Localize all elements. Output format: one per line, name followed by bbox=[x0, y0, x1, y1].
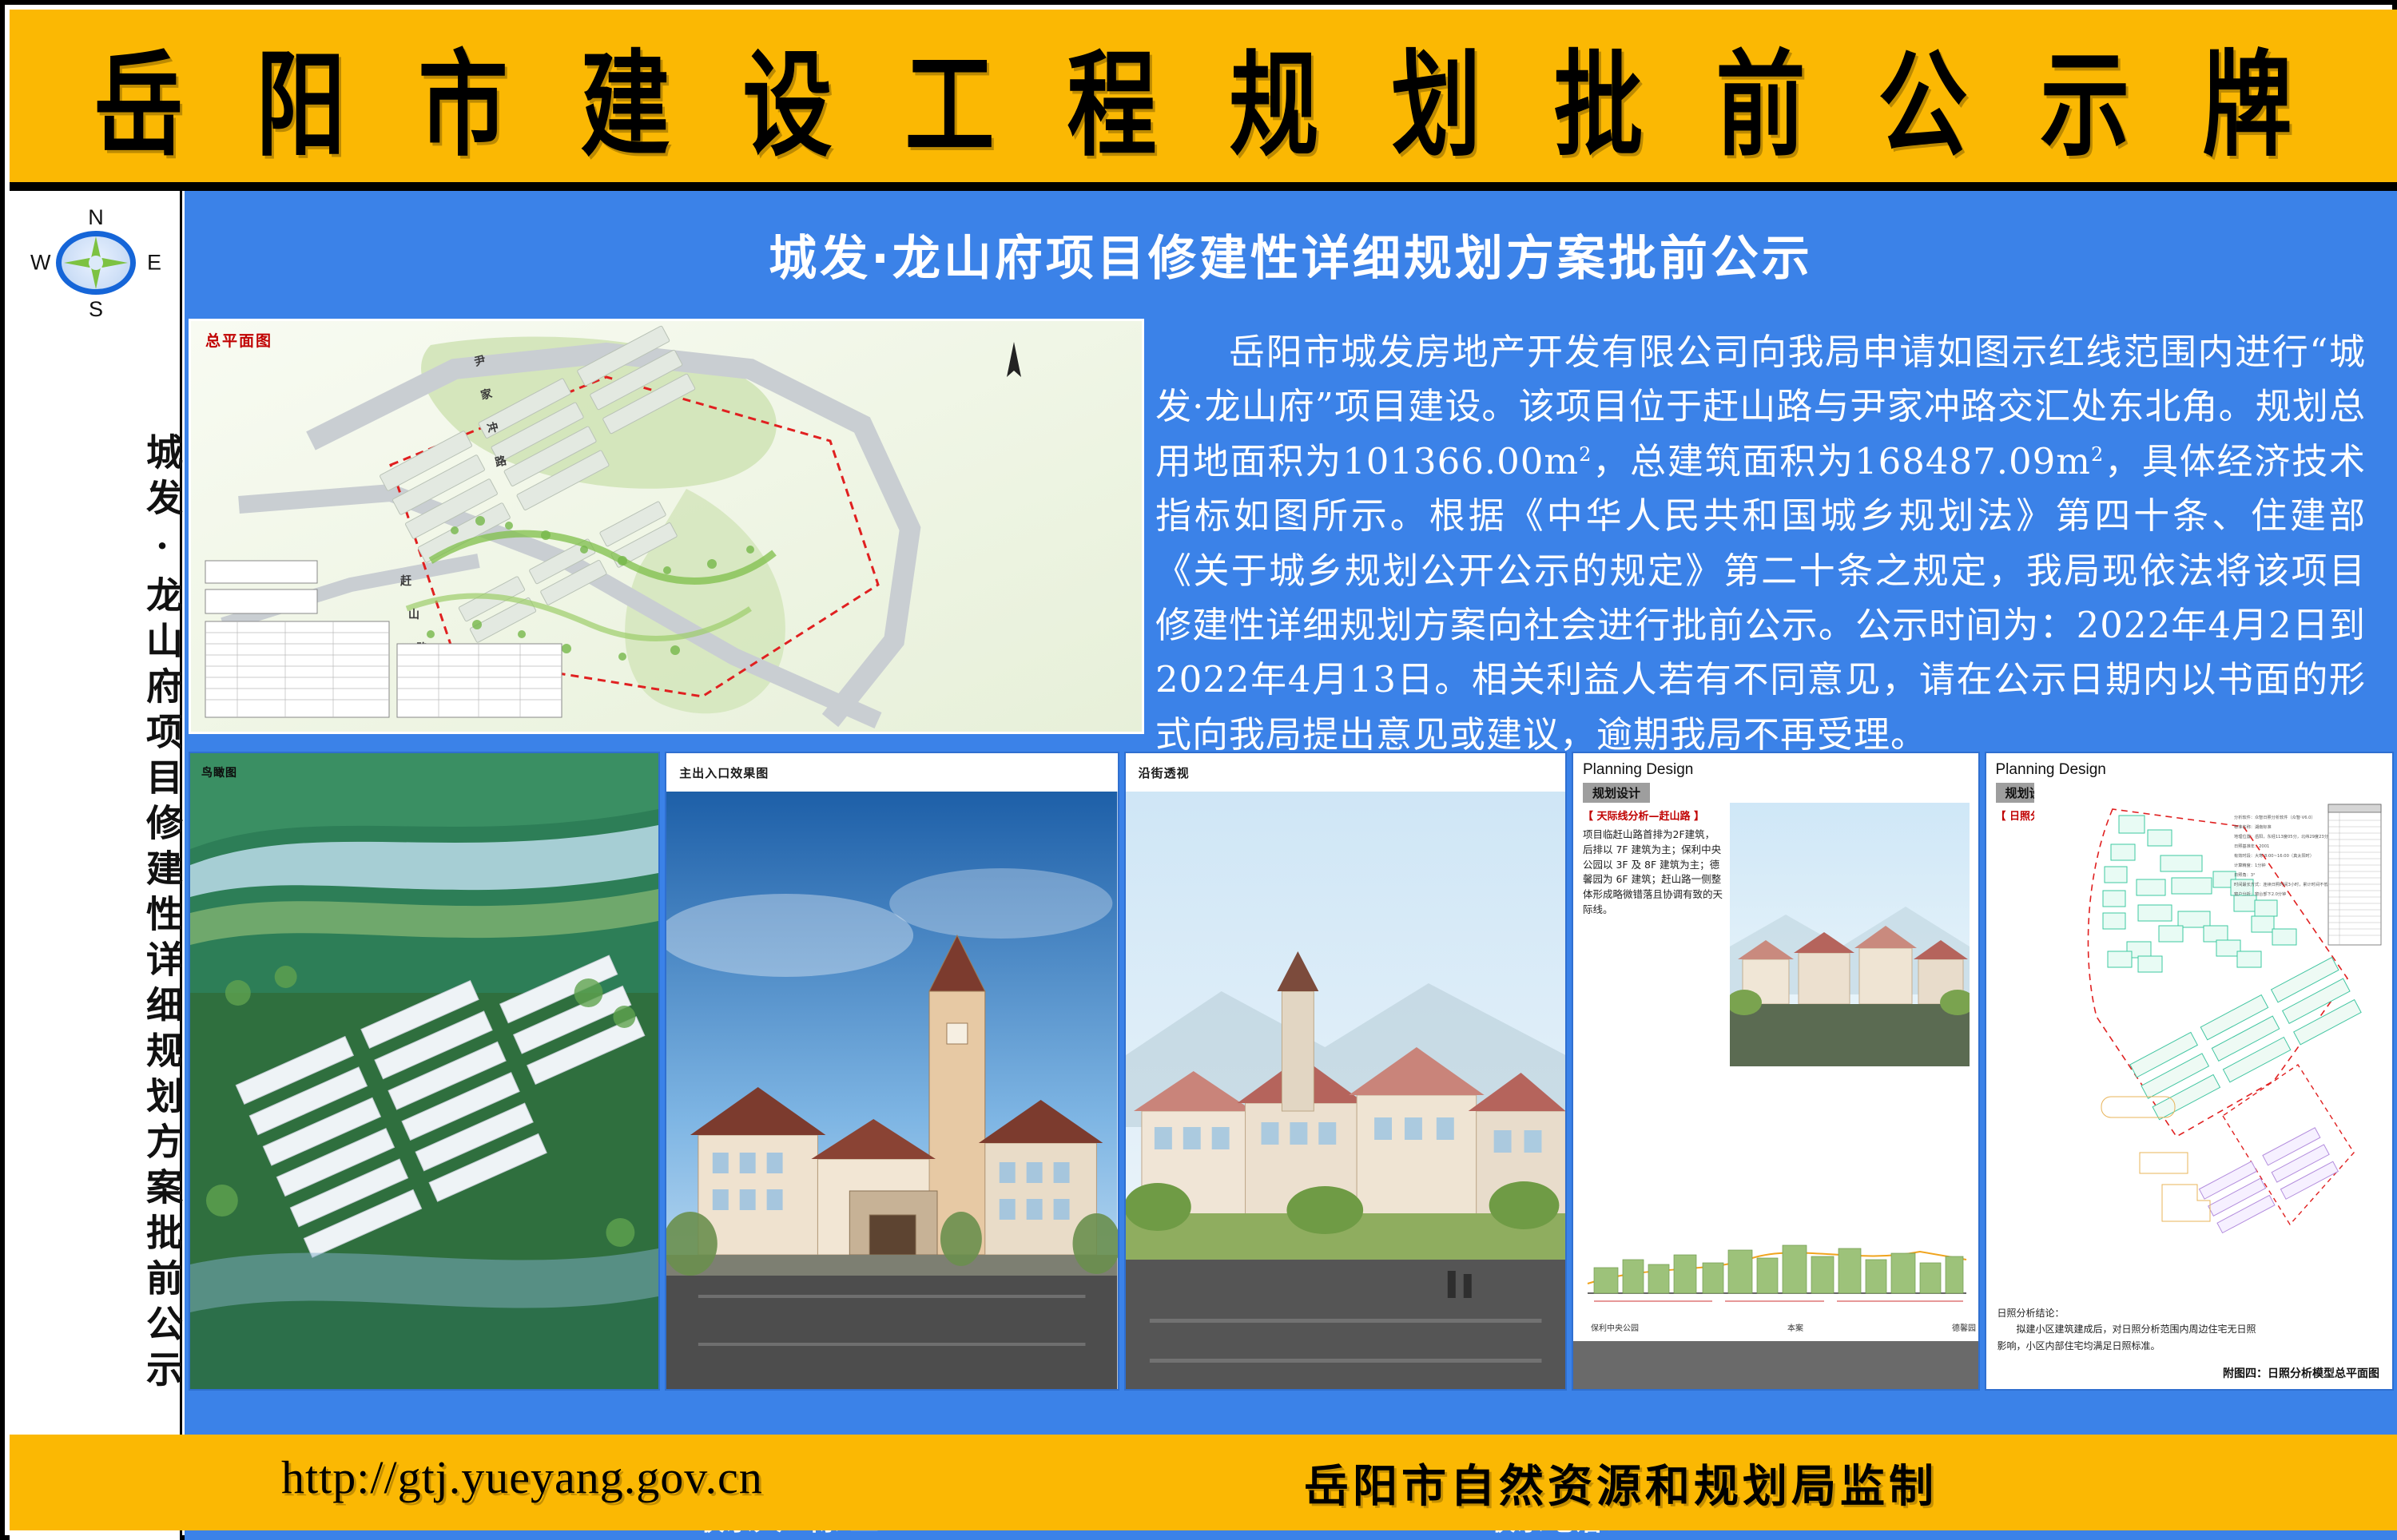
site-plan-drawing: 尹 家 冲 路 赶山路 bbox=[191, 321, 1142, 732]
left-spine: N S W E 城发·龙山府项目修建性详细规划方案批前公示 bbox=[10, 191, 182, 1540]
svg-text:赶: 赶 bbox=[399, 574, 412, 588]
conclusion-title: 日照分析结论： bbox=[1997, 1305, 2261, 1321]
sunlight-figure-caption: 附图四：日照分析模型总平面图 bbox=[2223, 1365, 2379, 1381]
svg-text:标准名称：湖南标准: 标准名称：湖南标准 bbox=[2234, 824, 2272, 830]
skyline-axis-right: 德馨园 bbox=[1952, 1321, 1976, 1333]
notice-body-part3: ，具体经济技术指标如图所示。根据《中华人民共和国城乡规划法》第四十条、住建部《关… bbox=[1155, 440, 2366, 756]
site-plan-label: 总平面图 bbox=[205, 329, 272, 351]
svg-text:有效时段：大寒 8:00~16:00（真太阳时）: 有效时段：大寒 8:00~16:00（真太阳时） bbox=[2234, 852, 2314, 859]
page-title: 岳 阳 市 建 设 工 程 规 划 批 前 公 示 牌 bbox=[94, 13, 2313, 178]
skyline-section-diagram bbox=[1584, 1207, 1970, 1312]
skyline-panel: Planning Design 规划设计 【 天际线分析—赶山路 】 项目临赶山… bbox=[1573, 753, 1978, 1389]
compass-star-icon bbox=[59, 233, 133, 292]
svg-text:分析软件：众智日照分析软件（众智·V6.0）: 分析软件：众智日照分析软件（众智·V6.0） bbox=[2234, 814, 2316, 820]
notice-body-part2: ，总建筑面积为168487.09m bbox=[1592, 440, 2091, 482]
superscript-1: 2 bbox=[1579, 443, 1592, 466]
card-main-entrance[interactable]: 主出入口效果图 bbox=[665, 752, 1119, 1391]
card-street-perspective[interactable]: 沿街透视 bbox=[1124, 752, 1567, 1391]
card-skyline-analysis[interactable]: Planning Design 规划设计 【 天际线分析—赶山路 】 项目临赶山… bbox=[1572, 752, 1980, 1391]
site-plan-figure[interactable]: 尹 家 冲 路 赶山路 bbox=[189, 319, 1144, 734]
svg-text:山: 山 bbox=[408, 609, 419, 621]
site-plan-canvas: 尹 家 冲 路 赶山路 bbox=[191, 321, 1142, 732]
card-caption: 沿街透视 bbox=[1139, 764, 1190, 781]
skyline-axis-mid: 本案 bbox=[1787, 1321, 1803, 1333]
project-subtitle: 城发·龙山府项目修建性详细规划方案批前公示 bbox=[185, 220, 2397, 289]
footer-organization: 岳阳市自然资源和规划局监制 bbox=[1304, 1451, 1938, 1515]
board-title-bar: 岳 阳 市 建 设 工 程 规 划 批 前 公 示 牌 bbox=[10, 10, 2397, 182]
card-sunlight-analysis[interactable]: Planning Design 规划设计 【 日照分析 】 bbox=[1985, 752, 2395, 1391]
compass-west-label: W bbox=[30, 251, 50, 276]
svg-text:计算精度：1分钟: 计算精度：1分钟 bbox=[2234, 862, 2266, 868]
compass-south-label: S bbox=[89, 297, 103, 322]
publicity-board: 岳 阳 市 建 设 工 程 规 划 批 前 公 示 牌 N S W E 城发·龙… bbox=[0, 0, 2397, 1540]
footer-url[interactable]: http://gtj.yueyang.gov.cn bbox=[281, 1451, 763, 1504]
card-caption: 鸟瞰图 bbox=[201, 764, 237, 780]
title-divider bbox=[10, 182, 2397, 191]
spine-vertical-title: 城发·龙山府项目修建性详细规划方案批前公示 bbox=[10, 343, 182, 1485]
street-perspective-image bbox=[1126, 792, 1565, 1391]
panel-note: 项目临赶山路首排为2F建筑，后排以 7F 建筑为主；保利中央公园以 3F 及 8… bbox=[1583, 828, 1723, 918]
svg-text:日照角：3°: 日照角：3° bbox=[2234, 871, 2256, 878]
skyline-axis-left: 保利中央公园 bbox=[1591, 1321, 1639, 1333]
card-caption-bar: 主出入口效果图 bbox=[666, 753, 1117, 792]
conclusion-text: 拟建小区建筑建成后，对日照分析范围内周边住宅无日照影响，小区内部住宅均满足日照标… bbox=[1997, 1321, 2261, 1354]
card-aerial-view[interactable]: 鸟瞰图 bbox=[189, 752, 660, 1391]
figure-strip: 鸟瞰图 主出入口效果图 bbox=[189, 752, 2394, 1391]
sunlight-panel: Planning Design 规划设计 【 日照分析 】 bbox=[1986, 753, 2393, 1389]
card-caption-bar: 沿街透视 bbox=[1126, 753, 1565, 792]
compass-rose-icon: N S W E bbox=[29, 207, 163, 319]
main-panel: 城发·龙山府项目修建性详细规划方案批前公示 bbox=[185, 191, 2397, 1540]
card-caption: 主出入口效果图 bbox=[679, 764, 769, 781]
panel-en-title: Planning Design bbox=[1996, 761, 2383, 779]
panel-en-title: Planning Design bbox=[1583, 761, 1969, 779]
notice-body-text: 岳阳市城发房地产开发有限公司向我局申请如图示红线范围内进行“城发·龙山府”项目建… bbox=[1155, 325, 2366, 762]
sunlight-model-plan: 分析软件：众智日照分析软件（众智·V6.0） 标准名称：湖南标准 地理位置：岳阳… bbox=[2034, 777, 2386, 1320]
aerial-view-image bbox=[190, 753, 658, 1389]
skyline-footer-band bbox=[1573, 1341, 1978, 1389]
footer-bar: http://gtj.yueyang.gov.cn 岳阳市自然资源和规划局监制 bbox=[10, 1435, 2397, 1530]
svg-text:日照基准年：2001: 日照基准年：2001 bbox=[2234, 843, 2269, 849]
svg-text:时间最长方式：连续日照时间3小时，累计时间不低于2小时: 时间最长方式：连续日照时间3小时，累计时间不低于2小时 bbox=[2234, 881, 2343, 887]
svg-text:地理位置：岳阳，东经113度05分，北纬29度23分: 地理位置：岳阳，东经113度05分，北纬29度23分 bbox=[2234, 833, 2328, 839]
panel-cn-title: 规划设计 bbox=[1583, 783, 1650, 803]
svg-text:窗户分析：窗台部下2.0分钟: 窗户分析：窗台部下2.0分钟 bbox=[2234, 891, 2286, 897]
main-entrance-image bbox=[666, 792, 1117, 1391]
compass-north-label: N bbox=[88, 205, 104, 230]
compass-east-label: E bbox=[147, 251, 161, 276]
skyline-render-image bbox=[1730, 803, 1970, 1066]
superscript-2: 2 bbox=[2091, 443, 2104, 466]
sunlight-conclusion-block: 日照分析结论： 拟建小区建筑建成后，对日照分析范围内周边住宅无日照影响，小区内部… bbox=[1997, 1305, 2261, 1354]
